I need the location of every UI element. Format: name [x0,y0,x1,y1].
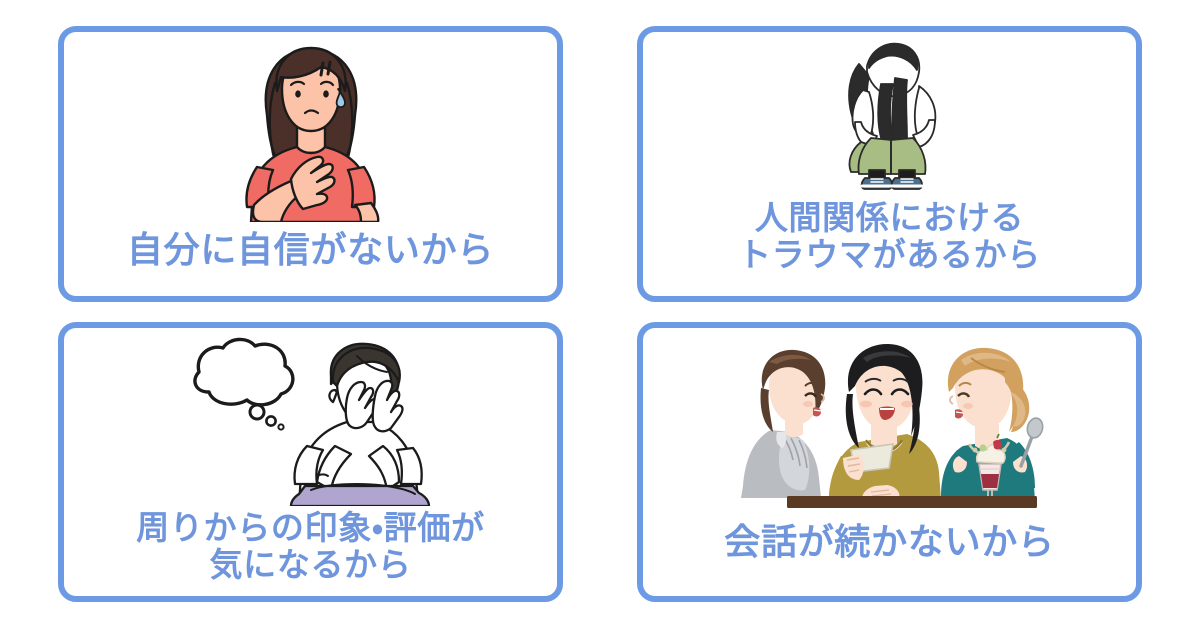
man-covering-face-with-thought-bubble-illustration [64,328,557,506]
card-others-impression[interactable]: 周りからの印象・評価が 気になるから [58,322,563,602]
three-women-chatting-at-table-illustration [643,328,1136,510]
card-self-confidence[interactable]: 自分に自信がないから [58,26,563,302]
card-caption: 周りからの印象・評価が 気になるから [64,510,557,584]
card-conversation-stalls[interactable]: 会話が続かないから [637,322,1142,602]
card-caption: 会話が続かないから [643,522,1136,562]
card-caption: 自分に自信がないから [64,230,557,270]
card-caption: 人間関係における トラウマがあるから [643,200,1136,274]
card-relationship-trauma[interactable]: 人間関係における トラウマがあるから [637,26,1142,302]
worried-woman-hand-on-chest-illustration [64,32,557,222]
reasons-card-grid: 自分に自信がないから [0,0,1200,630]
person-hugging-knees-illustration [643,32,1136,190]
